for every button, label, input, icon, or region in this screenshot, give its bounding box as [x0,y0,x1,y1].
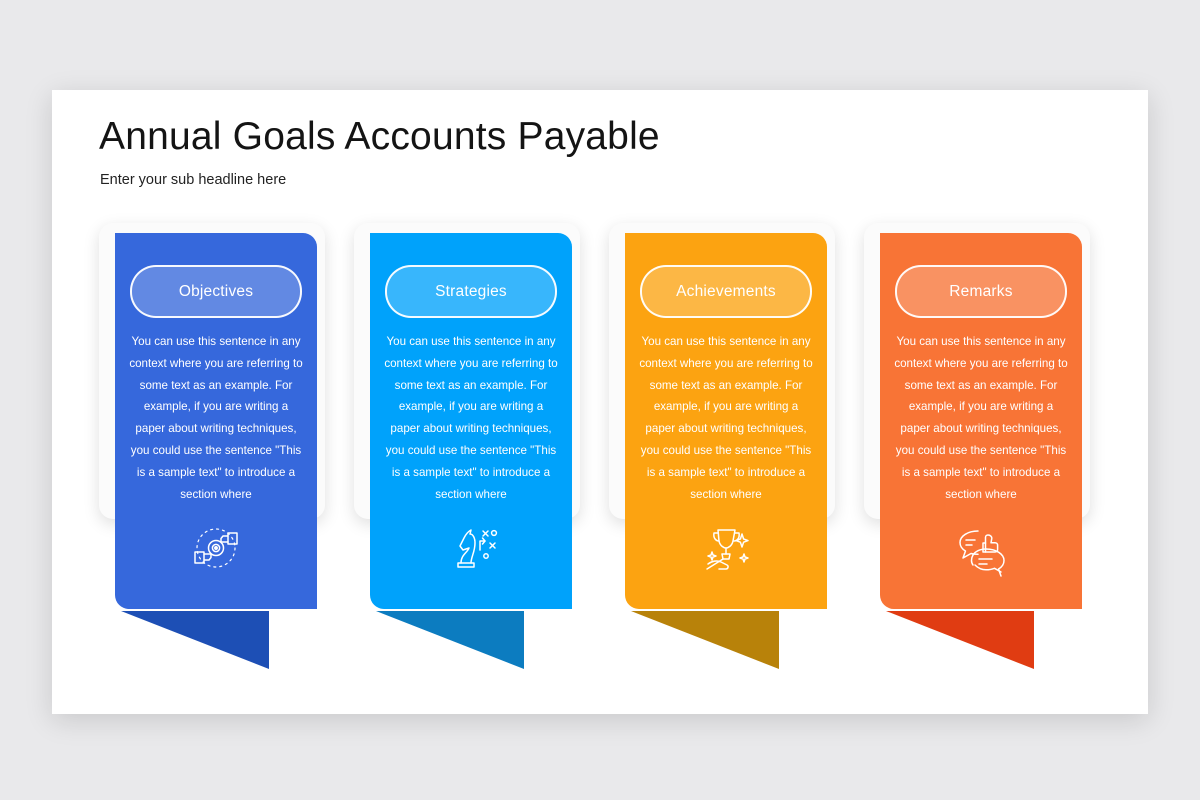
card-colored-body: Remarks You can use this sentence in any… [880,233,1082,609]
slide-canvas: Annual Goals Accounts Payable Enter your… [52,90,1148,714]
card-pill-achievements[interactable]: Achievements [640,265,812,318]
chess-knight-strategy-icon [440,517,502,579]
card-pill-remarks[interactable]: Remarks [895,265,1067,318]
page-subtitle: Enter your sub headline here [100,172,286,188]
card-body-text: You can use this sentence in any context… [639,331,813,505]
card-ribbon [631,611,779,669]
card-colored-body: Strategies You can use this sentence in … [370,233,572,609]
card-body-text: You can use this sentence in any context… [129,331,303,505]
card-remarks[interactable]: Remarks You can use this sentence in any… [864,223,1090,683]
card-pill-objectives[interactable]: Objectives [130,265,302,318]
ribbon-shape [121,611,269,669]
chat-thumbsup-icon [950,517,1012,579]
card-objectives[interactable]: Objectives You can use this sentence in … [99,223,325,683]
card-strategies[interactable]: Strategies You can use this sentence in … [354,223,580,683]
card-colored-body: Objectives You can use this sentence in … [115,233,317,609]
card-ribbon [886,611,1034,669]
card-colored-body: Achievements You can use this sentence i… [625,233,827,609]
card-label: Remarks [949,283,1012,301]
card-ribbon [121,611,269,669]
card-list: Objectives You can use this sentence in … [99,223,1109,683]
ribbon-shape [631,611,779,669]
card-ribbon [376,611,524,669]
card-achievements[interactable]: Achievements You can use this sentence i… [609,223,835,683]
card-label: Strategies [435,283,507,301]
card-label: Objectives [179,283,253,301]
page-title: Annual Goals Accounts Payable [99,115,660,159]
card-label: Achievements [676,283,776,301]
ribbon-shape [376,611,524,669]
ribbon-shape [886,611,1034,669]
target-hands-icon [185,517,247,579]
trophy-hand-icon [695,517,757,579]
card-body-text: You can use this sentence in any context… [894,331,1068,505]
card-body-text: You can use this sentence in any context… [384,331,558,505]
card-pill-strategies[interactable]: Strategies [385,265,557,318]
